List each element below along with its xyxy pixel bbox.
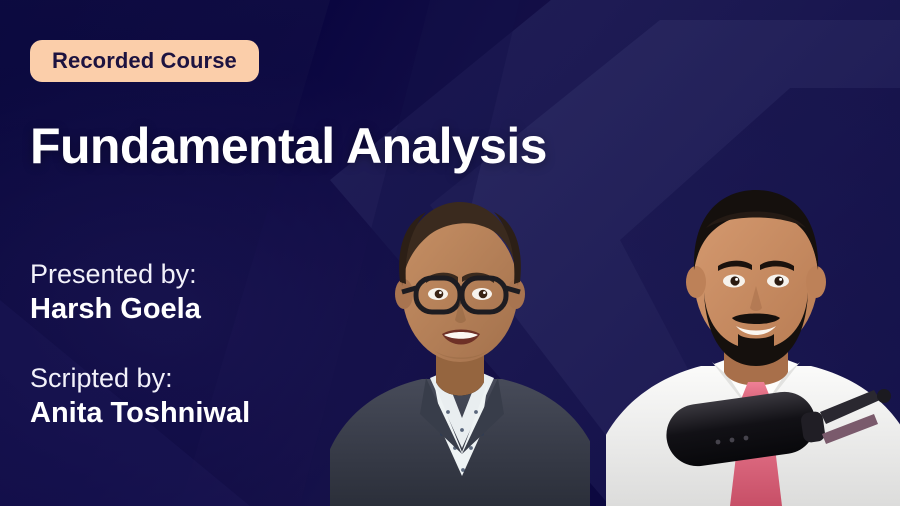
credit-name-scriptwriter: Anita Toshniwal	[30, 395, 250, 432]
page-title: Fundamental Analysis	[30, 117, 547, 175]
credits-block: Presented by: Harsh Goela Scripted by: A…	[30, 258, 250, 432]
credit-presented-by: Presented by: Harsh Goela	[30, 258, 250, 328]
credit-name-presenter: Harsh Goela	[30, 291, 250, 328]
course-type-badge: Recorded Course	[30, 40, 259, 82]
credit-scripted-by: Scripted by: Anita Toshniwal	[30, 362, 250, 432]
scriptwriter-photo	[330, 186, 590, 506]
credit-label-presented-by: Presented by:	[30, 258, 250, 291]
presenter-photo	[606, 166, 900, 506]
course-type-badge-label: Recorded Course	[52, 48, 237, 74]
credit-label-scripted-by: Scripted by:	[30, 362, 250, 395]
course-thumbnail: Recorded Course Fundamental Analysis Pre…	[0, 0, 900, 506]
